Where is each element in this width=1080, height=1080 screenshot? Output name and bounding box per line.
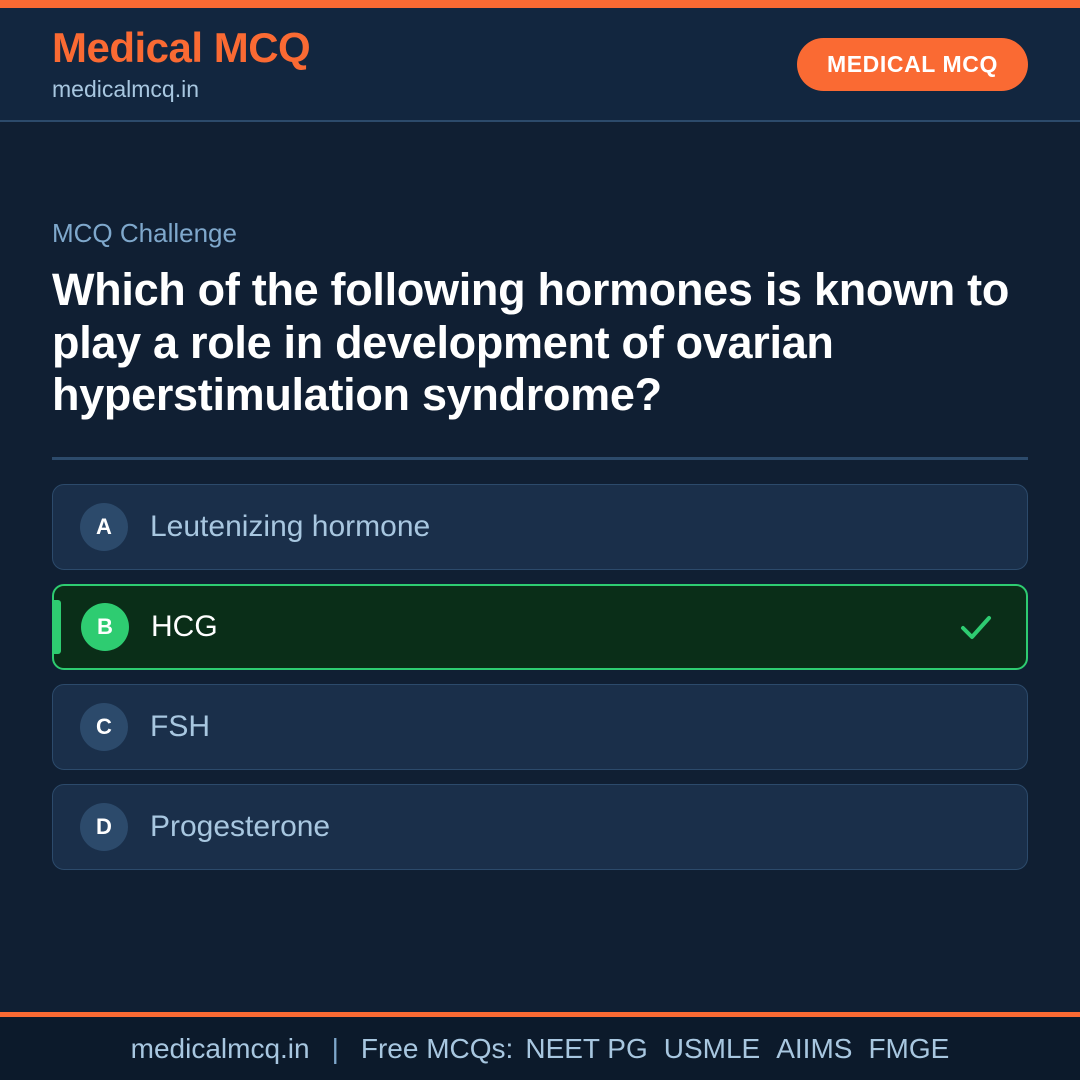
footer-exam-usmle[interactable]: USMLE: [664, 1033, 760, 1065]
option-row-a[interactable]: A Leutenizing hormone: [52, 484, 1028, 570]
brand-subtitle: medicalmcq.in: [52, 78, 310, 101]
option-row-b[interactable]: B HCG: [52, 584, 1028, 670]
section-divider: [52, 457, 1028, 460]
option-letter-c: C: [80, 703, 128, 751]
footer-exam-neet-pg[interactable]: NEET PG: [525, 1033, 647, 1065]
option-row-d[interactable]: D Progesterone: [52, 784, 1028, 870]
option-text-d: Progesterone: [150, 812, 997, 842]
footer-exam-aiims[interactable]: AIIMS: [776, 1033, 852, 1065]
footer-exam-fmge[interactable]: FMGE: [868, 1033, 949, 1065]
header-badge: MEDICAL MCQ: [797, 38, 1028, 91]
footer-site-link[interactable]: medicalmcq.in: [131, 1033, 310, 1065]
page-footer: medicalmcq.in | Free MCQs: NEET PG USMLE…: [0, 1012, 1080, 1080]
options-list: A Leutenizing hormone B HCG C FSH D: [52, 484, 1028, 870]
footer-content: medicalmcq.in | Free MCQs: NEET PG USMLE…: [131, 1033, 950, 1065]
option-text-b: HCG: [151, 612, 956, 642]
check-icon: [956, 607, 996, 647]
option-row-c[interactable]: C FSH: [52, 684, 1028, 770]
option-text-c: FSH: [150, 712, 997, 742]
option-letter-b: B: [81, 603, 129, 651]
footer-label: Free MCQs:: [361, 1033, 513, 1065]
correct-accent-bar: [54, 600, 61, 654]
top-accent-bar: [0, 0, 1080, 8]
eyebrow-label: MCQ Challenge: [52, 220, 1028, 246]
option-letter-d: D: [80, 803, 128, 851]
page-header: Medical MCQ medicalmcq.in MEDICAL MCQ: [0, 8, 1080, 122]
question-text: Which of the following hormones is known…: [52, 264, 1012, 422]
brand-block: Medical MCQ medicalmcq.in: [52, 27, 310, 101]
option-text-a: Leutenizing hormone: [150, 512, 997, 542]
footer-separator: |: [332, 1033, 339, 1065]
brand-title: Medical MCQ: [52, 27, 310, 69]
option-letter-a: A: [80, 503, 128, 551]
main-content: MCQ Challenge Which of the following hor…: [0, 122, 1080, 1012]
